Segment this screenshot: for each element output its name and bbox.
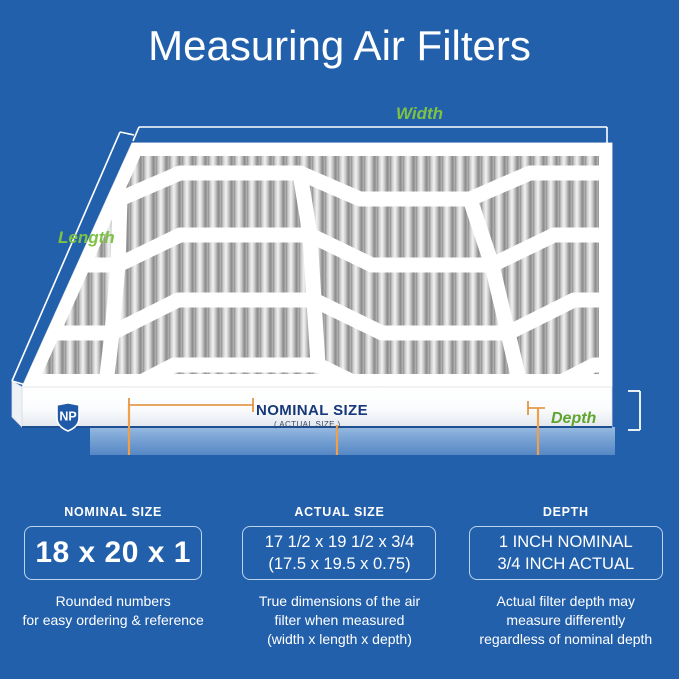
page-title: Measuring Air Filters: [0, 22, 679, 70]
width-label: Width: [396, 104, 443, 124]
nominal-size-callout: NOMINAL SIZE: [256, 402, 368, 419]
infographic-canvas: Measuring Air Filters: [0, 0, 679, 679]
card-actual-size-value: 17 1/2 x 19 1/2 x 3/4 (17.5 x 19.5 x 0.7…: [242, 526, 436, 580]
air-filter-illustration: [0, 95, 679, 455]
card-nominal-size-heading: NOMINAL SIZE: [64, 505, 162, 519]
card-depth-value: 1 INCH NOMINAL 3/4 INCH ACTUAL: [469, 526, 663, 580]
card-depth-value-line-1: 1 INCH NOMINAL: [470, 531, 662, 553]
actual-size-callout: ( ACTUAL SIZE ): [274, 420, 341, 429]
card-depth-caption: Actual filter depth may measure differen…: [479, 592, 652, 649]
card-depth-heading: DEPTH: [543, 505, 589, 519]
card-actual-size-value-line-2: (17.5 x 19.5 x 0.75): [243, 553, 435, 575]
width-dimension-bracket: [133, 127, 607, 143]
length-label: Length: [58, 228, 115, 248]
depth-label: Depth: [551, 410, 596, 428]
caption-line: Rounded numbers: [23, 592, 204, 611]
card-nominal-size: NOMINAL SIZE 18 x 20 x 1 Rounded numbers…: [0, 505, 226, 679]
caption-line: (width x length x depth): [259, 630, 420, 649]
caption-line: Actual filter depth may: [479, 592, 652, 611]
caption-line: True dimensions of the air: [259, 592, 420, 611]
filter-mesh: [0, 143, 679, 401]
card-nominal-size-caption: Rounded numbers for easy ordering & refe…: [23, 592, 204, 630]
card-depth-value-line-2: 3/4 INCH ACTUAL: [470, 553, 662, 575]
card-actual-size-caption: True dimensions of the air filter when m…: [259, 592, 420, 649]
caption-line: regardless of nominal depth: [479, 630, 652, 649]
card-actual-size-heading: ACTUAL SIZE: [294, 505, 384, 519]
caption-line: filter when measured: [259, 611, 420, 630]
card-actual-size: ACTUAL SIZE 17 1/2 x 19 1/2 x 3/4 (17.5 …: [226, 505, 452, 679]
np-logo-text: NP: [59, 410, 76, 424]
summary-cards: NOMINAL SIZE 18 x 20 x 1 Rounded numbers…: [0, 505, 679, 679]
depth-dimension-bracket: [628, 391, 640, 430]
card-nominal-size-value-line-1: 18 x 20 x 1: [25, 536, 201, 570]
np-shield-logo: NP: [55, 402, 81, 432]
card-actual-size-value-line-1: 17 1/2 x 19 1/2 x 3/4: [243, 531, 435, 553]
caption-line: measure differently: [479, 611, 652, 630]
card-nominal-size-value: 18 x 20 x 1: [24, 526, 202, 580]
card-depth: DEPTH 1 INCH NOMINAL 3/4 INCH ACTUAL Act…: [453, 505, 679, 679]
caption-line: for easy ordering & reference: [23, 611, 204, 630]
